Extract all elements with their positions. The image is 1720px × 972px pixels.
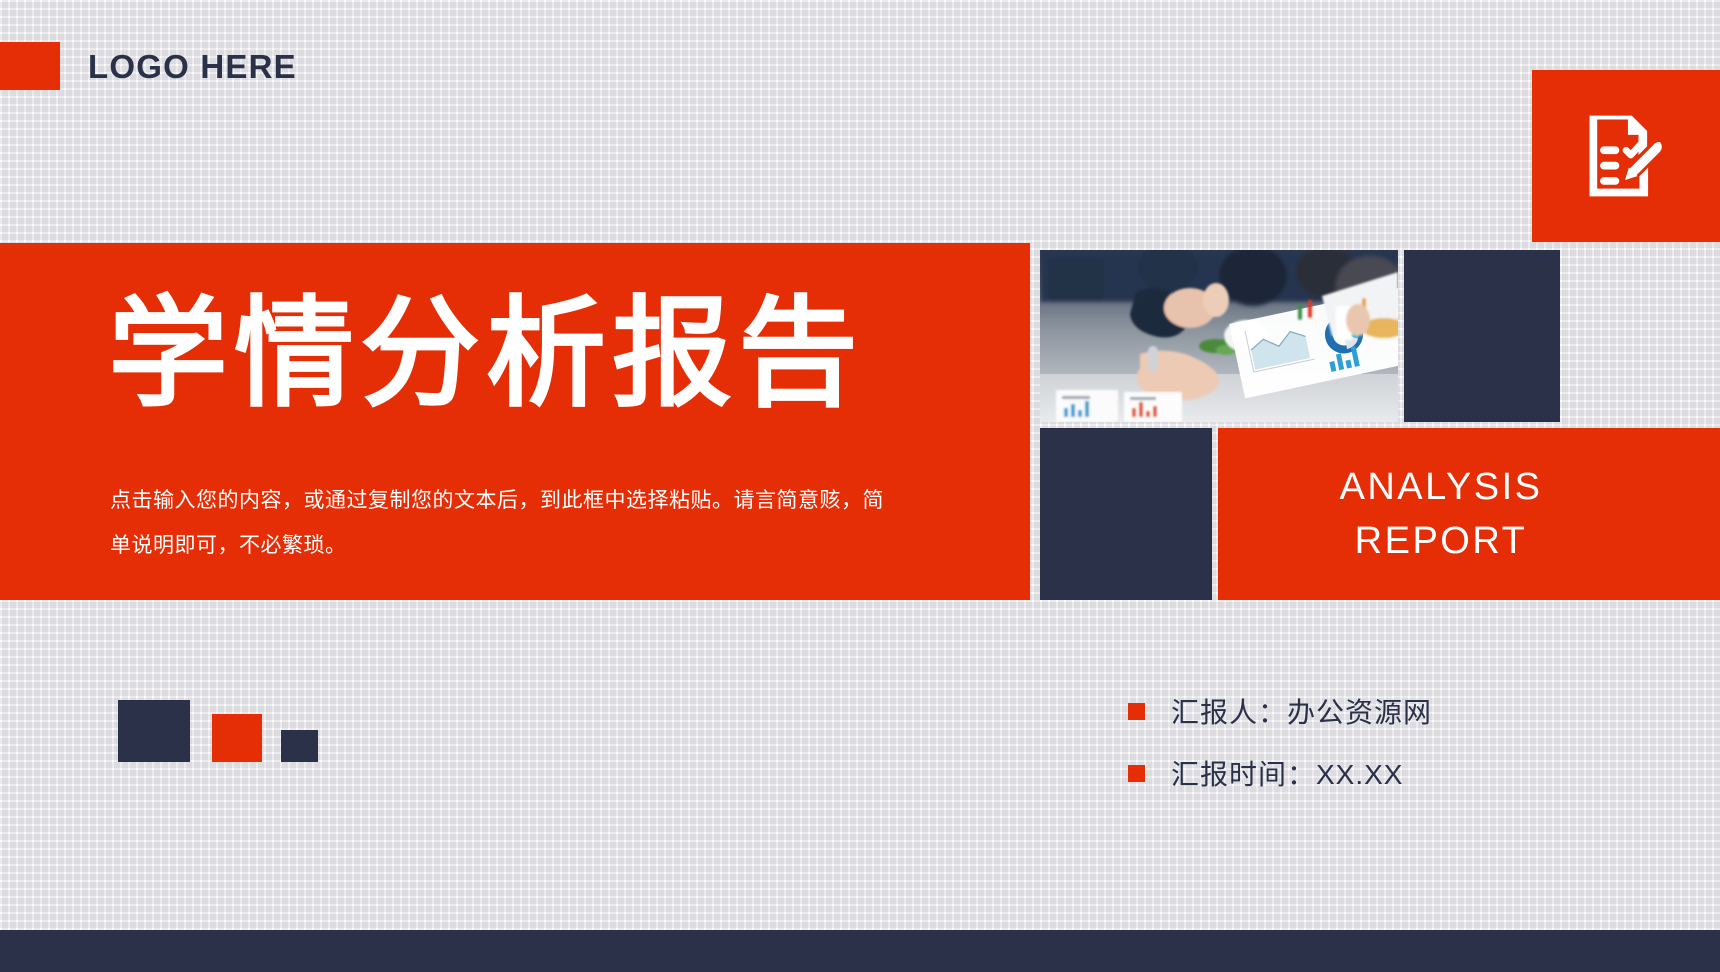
decorative-square-red-medium <box>212 714 262 762</box>
analysis-report-tile: ANALYSIS REPORT <box>1218 428 1720 600</box>
decorative-square-navy-small <box>281 730 318 762</box>
bullet-square-icon <box>1128 765 1145 782</box>
logo-mark <box>0 42 60 90</box>
decorative-square-navy-large <box>118 700 190 762</box>
document-checklist-pencil-icon <box>1578 108 1674 204</box>
bullet-square-icon <box>1128 703 1145 720</box>
analysis-label: ANALYSIS <box>1339 460 1542 514</box>
logo-text: LOGO HERE <box>88 46 297 88</box>
meta-row-date: 汇报时间：XX.XX <box>1128 742 1598 804</box>
presenter-label: 汇报人：办公资源网 <box>1171 691 1432 731</box>
document-checklist-pencil-icon-tile <box>1532 70 1720 242</box>
report-label: REPORT <box>1355 514 1528 568</box>
business-meeting-photo <box>1040 250 1398 422</box>
meta-info-list: 汇报人：办公资源网 汇报时间：XX.XX <box>1128 680 1598 804</box>
footer-bar <box>0 930 1720 972</box>
date-label: 汇报时间：XX.XX <box>1171 753 1403 793</box>
hero-subtitle: 点击输入您的内容，或通过复制您的文本后，到此框中选择粘贴。请言简意赅，简单说明即… <box>110 478 900 568</box>
navy-accent-block-lower-left <box>1040 428 1212 600</box>
page-title: 学情分析报告 <box>108 290 864 420</box>
navy-accent-block-upper-right <box>1404 250 1560 422</box>
meta-row-presenter: 汇报人：办公资源网 <box>1128 680 1598 742</box>
